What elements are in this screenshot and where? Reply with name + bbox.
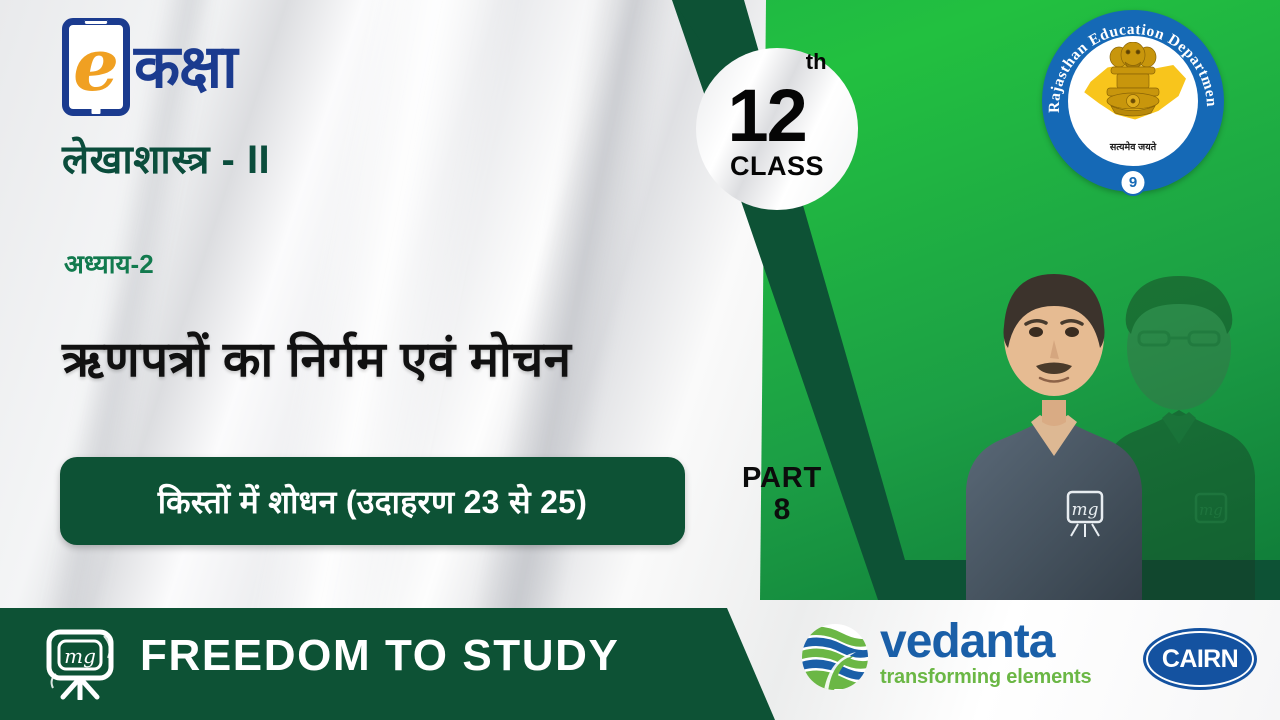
topic-badge-label: किस्तों में शोधन (उदाहरण 23 से 25) <box>158 480 587 523</box>
cairn-logo: CAIRN <box>1146 631 1254 687</box>
tablet-icon: e <box>62 18 130 116</box>
vedanta-globe-icon <box>800 622 870 692</box>
vedanta-name: vedanta <box>880 619 1091 665</box>
part-indicator: PART 8 <box>722 463 842 526</box>
tablet-home-button <box>92 108 101 114</box>
vedanta-wordmark: vedanta transforming elements <box>880 619 1091 689</box>
tablet-speaker <box>85 21 107 24</box>
part-label: PART <box>722 463 842 494</box>
emblem-inner-disc: सत्यमेव जयते <box>1068 36 1198 166</box>
vedanta-logo: vedanta transforming elements <box>800 619 1091 692</box>
svg-text:mg: mg <box>1199 501 1223 519</box>
chapter-label: अध्याय-2 <box>64 245 154 281</box>
class-number-ordinal: th <box>806 49 827 74</box>
instructor-photos: mg mg <box>930 215 1280 600</box>
footer-tagline: FREEDOM TO STUDY <box>140 631 619 681</box>
svg-text:mg: mg <box>1071 500 1098 520</box>
ekaksha-logo: e कक्षा <box>62 18 237 116</box>
vedanta-tagline: transforming elements <box>880 666 1091 689</box>
class-number-value: 12 <box>727 74 805 157</box>
ekaksha-logo-word: कक्षा <box>134 37 237 97</box>
cairn-name: CAIRN <box>1162 645 1238 674</box>
ekaksha-logo-letter: e <box>73 29 119 101</box>
topic-badge: किस्तों में शोधन (उदाहरण 23 से 25) <box>60 457 685 545</box>
class-number: 12th <box>727 82 826 150</box>
rajasthan-education-department-emblem: Rajasthan Education Department <box>1042 10 1224 192</box>
mg-logo-text: mg <box>64 644 96 668</box>
emblem-motto: सत्यमेव जयते <box>1068 140 1198 153</box>
part-number: 8 <box>722 494 842 526</box>
mg-easel-logo: mg <box>42 626 118 700</box>
emblem-bottom-badge: 9 <box>1120 169 1147 196</box>
class-badge: 12th CLASS <box>696 48 858 210</box>
thumbnail-canvas: e कक्षा लेखाशास्त्र - II अध्याय-2 ऋणपत्र… <box>0 0 1280 720</box>
page-title: ऋणपत्रों का निर्गम एवं मोचन <box>62 325 572 391</box>
instructor-photo-primary: mg <box>948 240 1160 600</box>
ashoka-lion-capital-icon <box>1097 42 1169 128</box>
subject-name: लेखाशास्त्र - II <box>62 130 270 185</box>
